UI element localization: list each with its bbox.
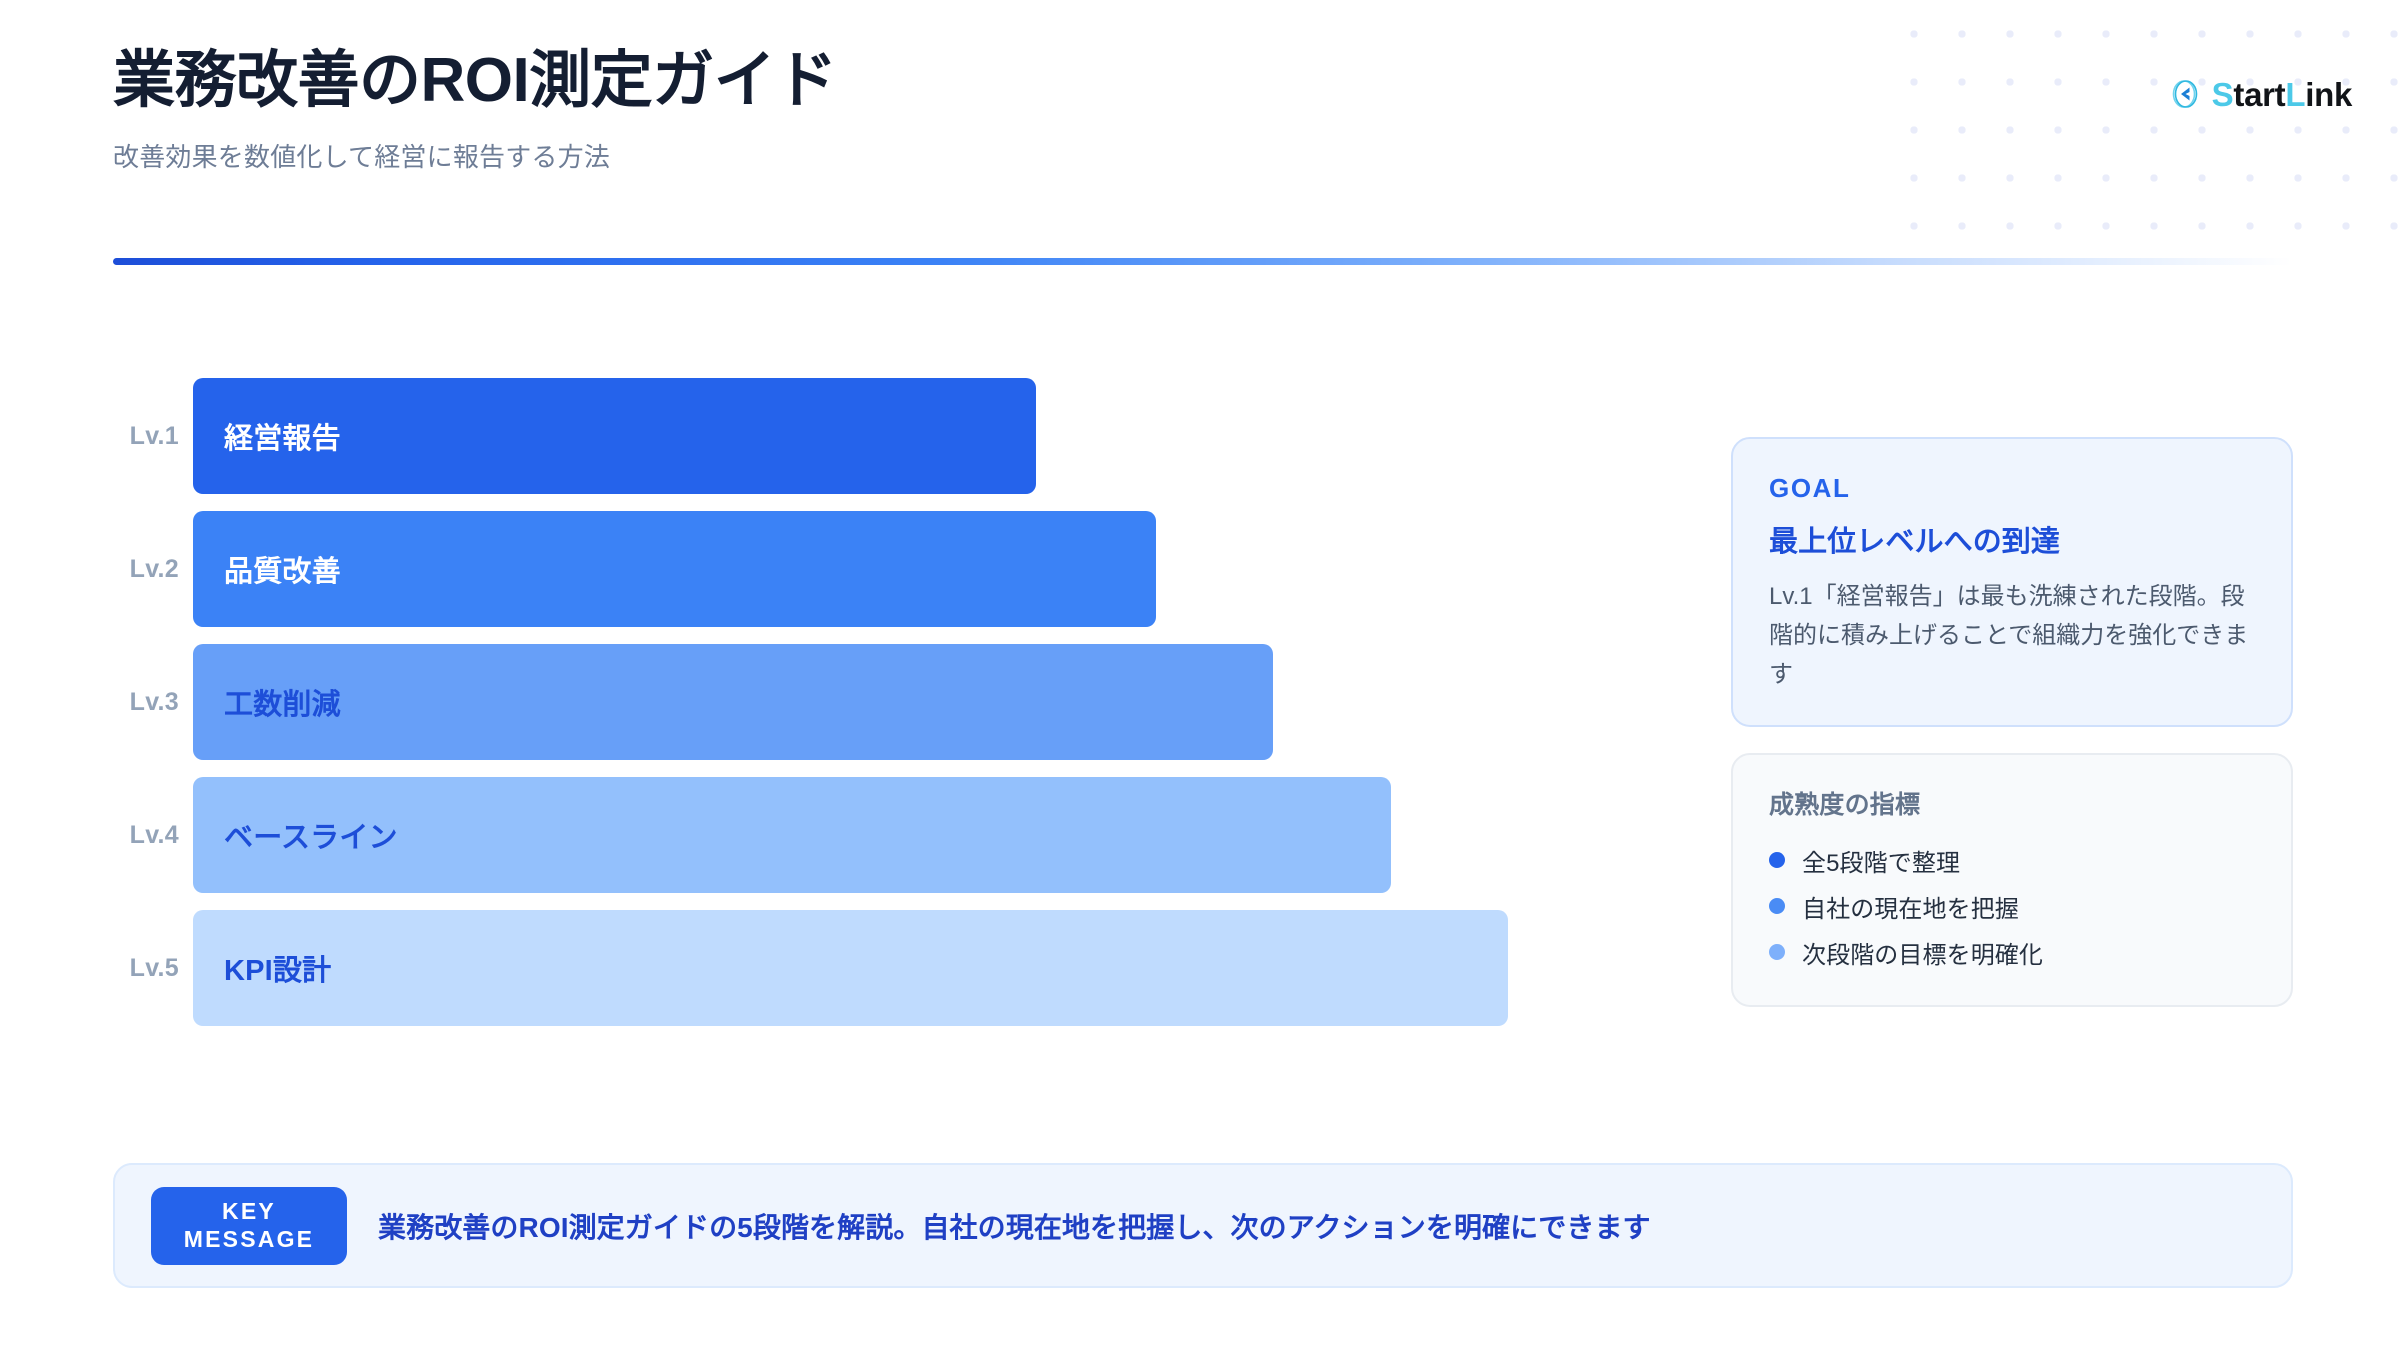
metrics-title: 成熟度の指標 [1769, 785, 2255, 821]
bar-label: 工数削減 [224, 681, 341, 723]
metrics-item-label: 次段階の目標を明確化 [1802, 935, 2043, 970]
list-item: 自社の現在地を把握 [1769, 883, 2255, 929]
bar-level-label: Lv.3 [113, 688, 193, 717]
startlink-logo-icon [2168, 77, 2202, 111]
bar-row: Lv.2 品質改善 [113, 511, 1613, 627]
list-item: 次段階の目標を明確化 [1769, 929, 2255, 975]
goal-eyebrow: GOAL [1769, 473, 2255, 504]
bar-lv1: 経営報告 [193, 378, 1036, 494]
key-badge-line1: KEY [222, 1198, 276, 1225]
brand-text-ink: ink [2305, 76, 2352, 113]
brand-text-s: S [2212, 76, 2234, 113]
maturity-metrics-card: 成熟度の指標 全5段階で整理 自社の現在地を把握 次段階の目標を明確化 [1731, 753, 2293, 1007]
brand-logo: StartLink [2168, 77, 2352, 111]
bar-level-label: Lv.2 [113, 555, 193, 584]
header: 業務改善のROI測定ガイド 改善効果を数値化して経営に報告する方法 [113, 46, 2287, 174]
brand-text-l: L [2285, 76, 2305, 113]
goal-card: GOAL 最上位レベルへの到達 Lv.1「経営報告」は最も洗練された段階。段階的… [1731, 437, 2293, 727]
bullet-dot-icon [1769, 852, 1785, 868]
bullet-dot-icon [1769, 944, 1785, 960]
key-message-text: 業務改善のROI測定ガイドの5段階を解説。自社の現在地を把握し、次のアクションを… [378, 1206, 1651, 1246]
bar-lv2: 品質改善 [193, 511, 1156, 627]
funnel-chart: Lv.1 経営報告 Lv.2 品質改善 Lv.3 工数削減 Lv.4 ベースライ… [113, 378, 1613, 1026]
brand-text-tart: tart [2233, 76, 2285, 113]
page-title: 業務改善のROI測定ガイド [113, 46, 2287, 115]
key-message-badge: KEY MESSAGE [151, 1187, 347, 1265]
bar-row: Lv.3 工数削減 [113, 644, 1613, 760]
bar-row: Lv.4 ベースライン [113, 777, 1613, 893]
key-message-bar: KEY MESSAGE 業務改善のROI測定ガイドの5段階を解説。自社の現在地を… [113, 1163, 2293, 1288]
bar-level-label: Lv.4 [113, 821, 193, 850]
bar-lv5: KPI設計 [193, 910, 1508, 1026]
bar-label: 品質改善 [224, 548, 341, 590]
key-badge-line2: MESSAGE [184, 1226, 314, 1253]
goal-body: Lv.1「経営報告」は最も洗練された段階。段階的に積み上げることで組織力を強化で… [1769, 578, 2255, 695]
bar-level-label: Lv.5 [113, 954, 193, 983]
bar-lv4: ベースライン [193, 777, 1391, 893]
bullet-dot-icon [1769, 898, 1785, 914]
bar-label: ベースライン [224, 814, 398, 856]
metrics-item-label: 自社の現在地を把握 [1802, 889, 2019, 924]
list-item: 全5段階で整理 [1769, 837, 2255, 883]
bar-row: Lv.5 KPI設計 [113, 910, 1613, 1026]
brand-wordmark: StartLink [2212, 78, 2352, 111]
metrics-item-label: 全5段階で整理 [1802, 843, 1960, 878]
slide-root: 業務改善のROI測定ガイド 改善効果を数値化して経営に報告する方法 StartL… [0, 0, 2400, 1350]
bar-label: 経営報告 [224, 415, 341, 457]
bar-lv3: 工数削減 [193, 644, 1273, 760]
bar-label: KPI設計 [224, 947, 331, 989]
goal-heading: 最上位レベルへの到達 [1769, 518, 2255, 560]
header-divider [113, 258, 2292, 265]
bar-row: Lv.1 経営報告 [113, 378, 1613, 494]
page-subtitle: 改善効果を数値化して経営に報告する方法 [113, 137, 2287, 174]
metrics-list: 全5段階で整理 自社の現在地を把握 次段階の目標を明確化 [1769, 837, 2255, 975]
bar-level-label: Lv.1 [113, 422, 193, 451]
